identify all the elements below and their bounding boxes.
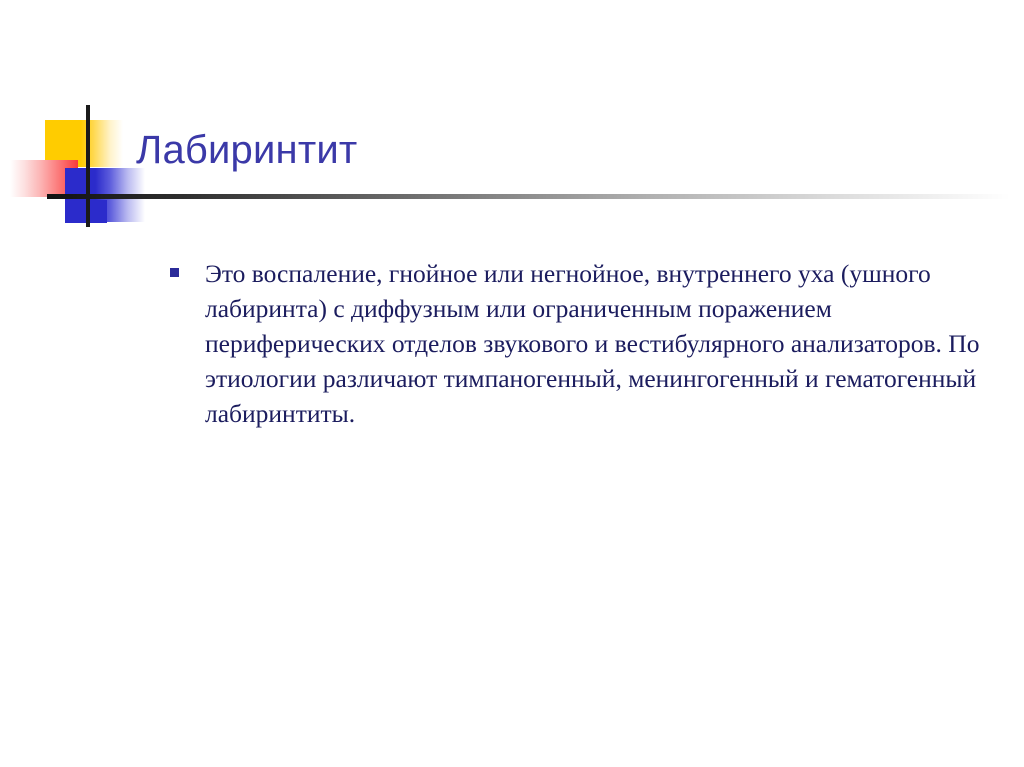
slide-body: Это воспаление, гнойное или негнойное, в… (170, 256, 990, 431)
bullet-item: Это воспаление, гнойное или негнойное, в… (170, 256, 990, 431)
blue-square-shape (65, 168, 145, 222)
square-bullet-icon (170, 268, 179, 277)
decorative-header-motif (0, 0, 1024, 240)
horizontal-rule (47, 194, 1010, 199)
bullet-item-text: Это воспаление, гнойное или негнойное, в… (205, 256, 990, 431)
red-rectangle-shape (10, 160, 78, 197)
yellow-square-shape (45, 120, 123, 167)
slide: Лабиринтит Это воспаление, гнойное или н… (0, 0, 1024, 767)
slide-title: Лабиринтит (136, 126, 976, 174)
blue-foot-shape (65, 200, 107, 223)
vertical-rule (86, 105, 90, 227)
